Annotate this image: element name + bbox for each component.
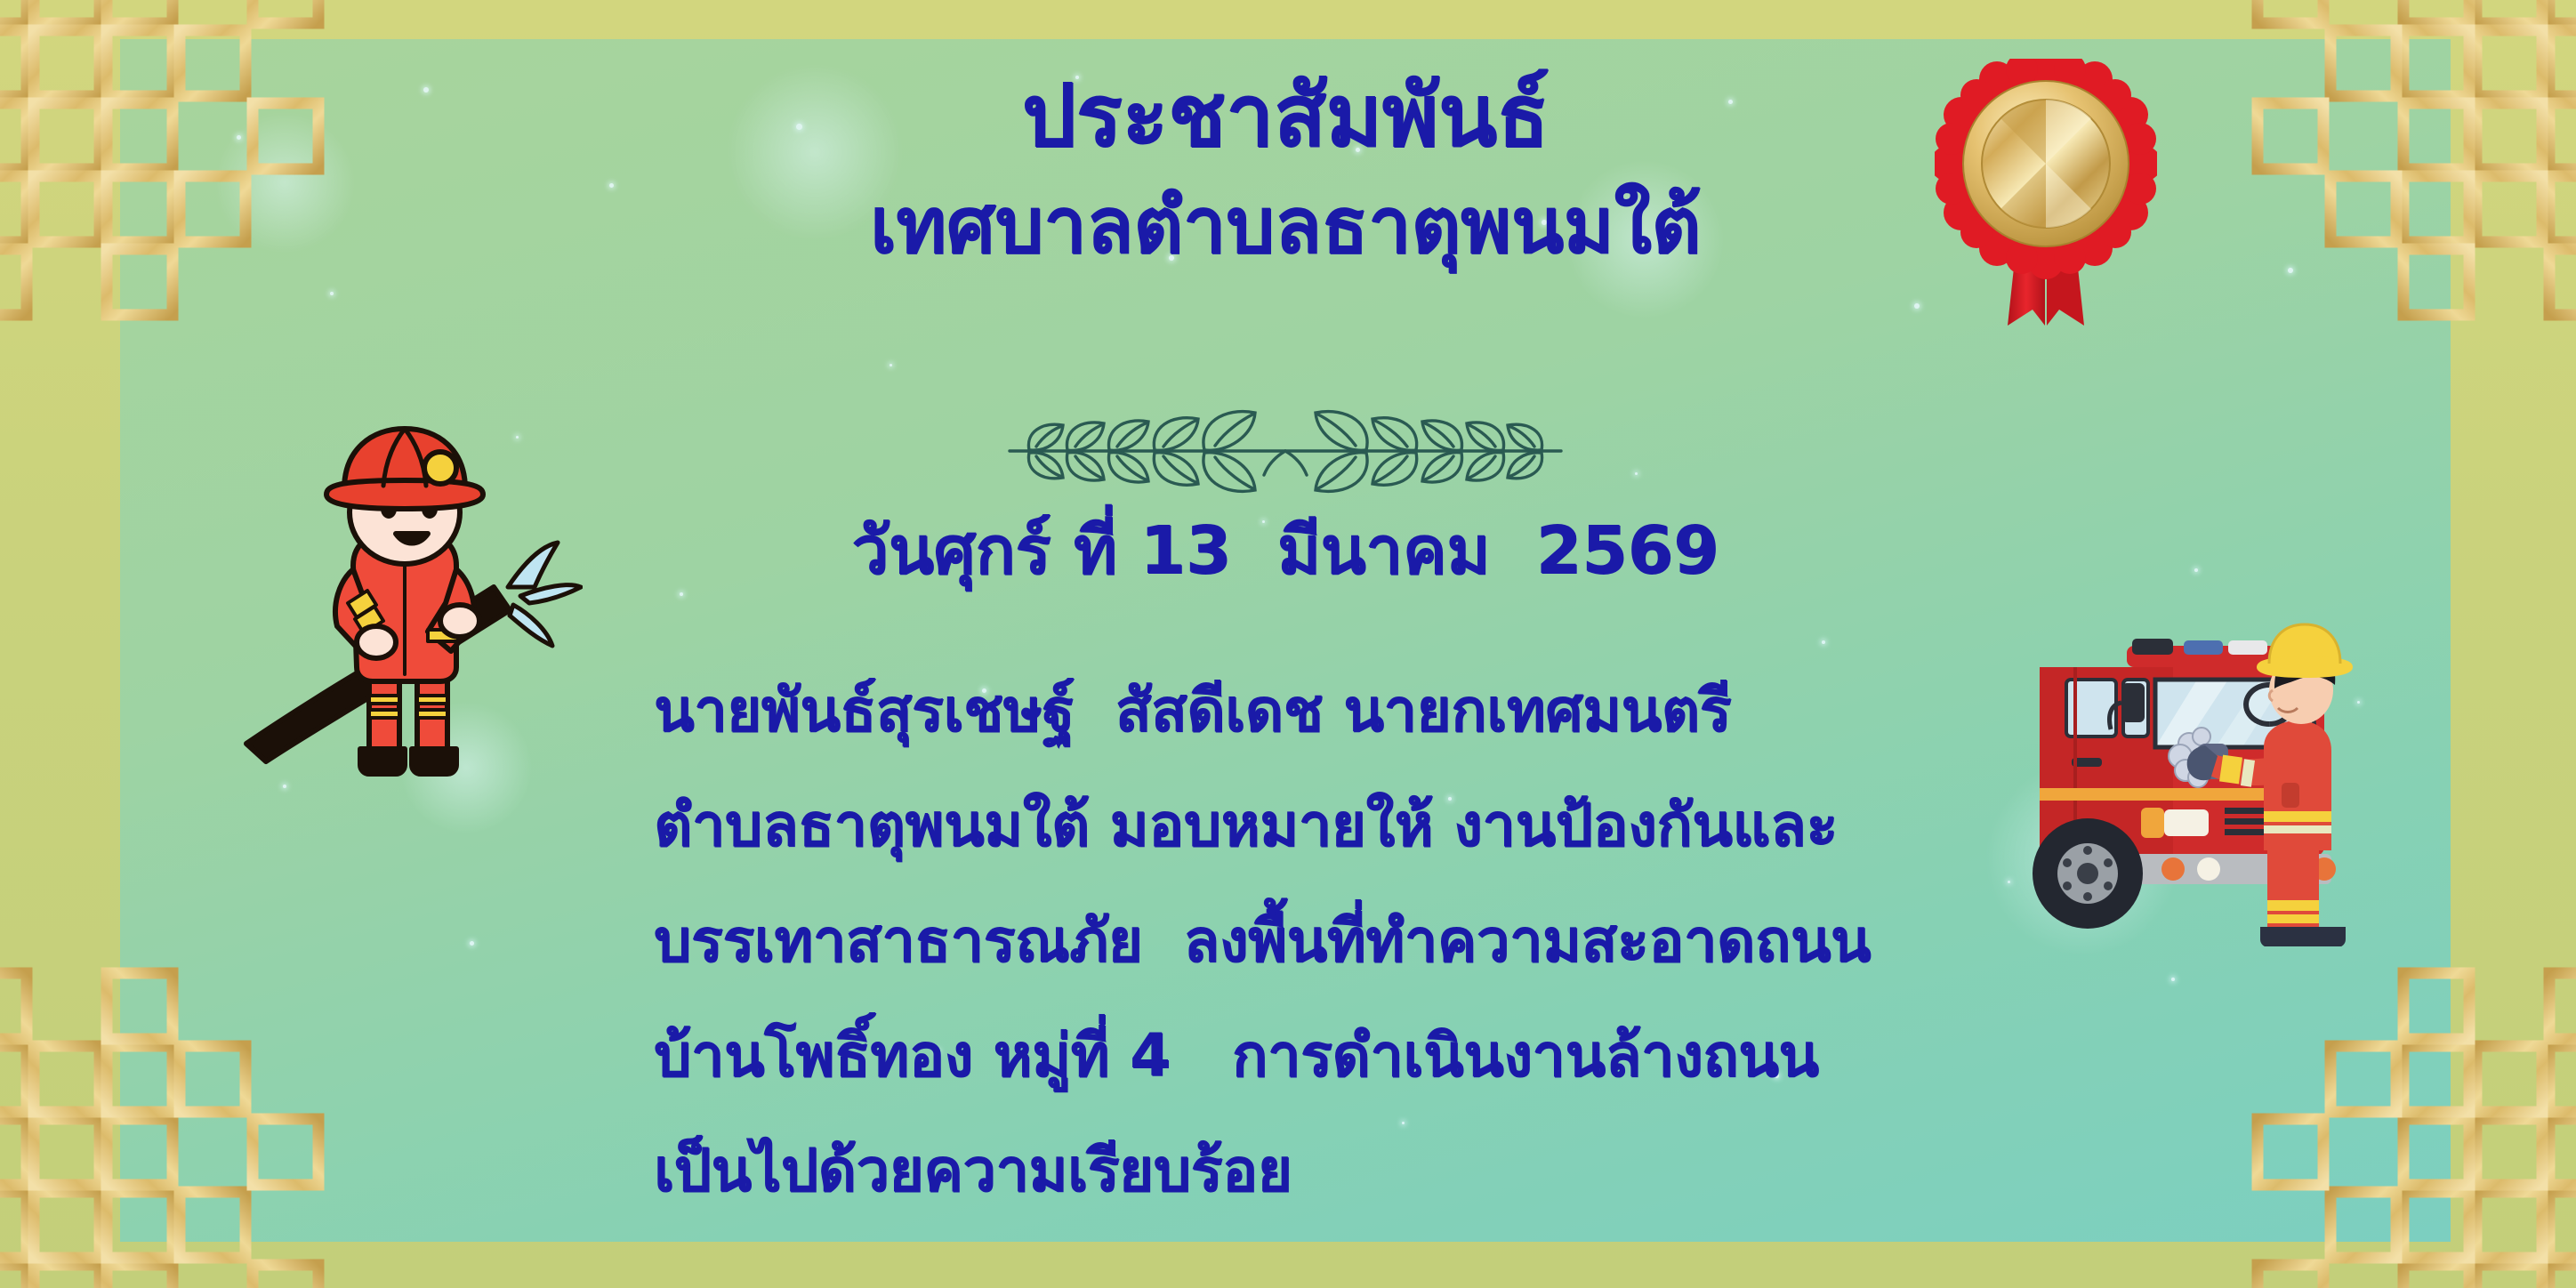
firefighter-mascot-icon [227, 413, 583, 777]
corner-ornament-top-left [0, 0, 336, 333]
corner-ornament-bottom-left [0, 955, 336, 1288]
poster-canvas: ประชาสัมพันธ์ เทศบาลตำบลธาตุพนมใต้ [0, 0, 2576, 1288]
corner-ornament-bottom-right [2240, 955, 2576, 1288]
inner-green-panel: ประชาสัมพันธ์ เทศบาลตำบลธาตุพนมใต้ [120, 39, 2451, 1242]
corner-ornament-top-right [2240, 0, 2576, 333]
fire-truck-icon [2015, 591, 2424, 946]
gold-medal-icon [1935, 59, 2157, 343]
body-line-5: เป็นไปด้วยความเรียบร้อย [654, 1113, 2255, 1228]
laurel-divider-icon [974, 402, 1597, 495]
body-line-4: บ้านโพธิ์ทอง หมู่ที่ 4 การดำเนินงานล้างถ… [654, 998, 2255, 1113]
